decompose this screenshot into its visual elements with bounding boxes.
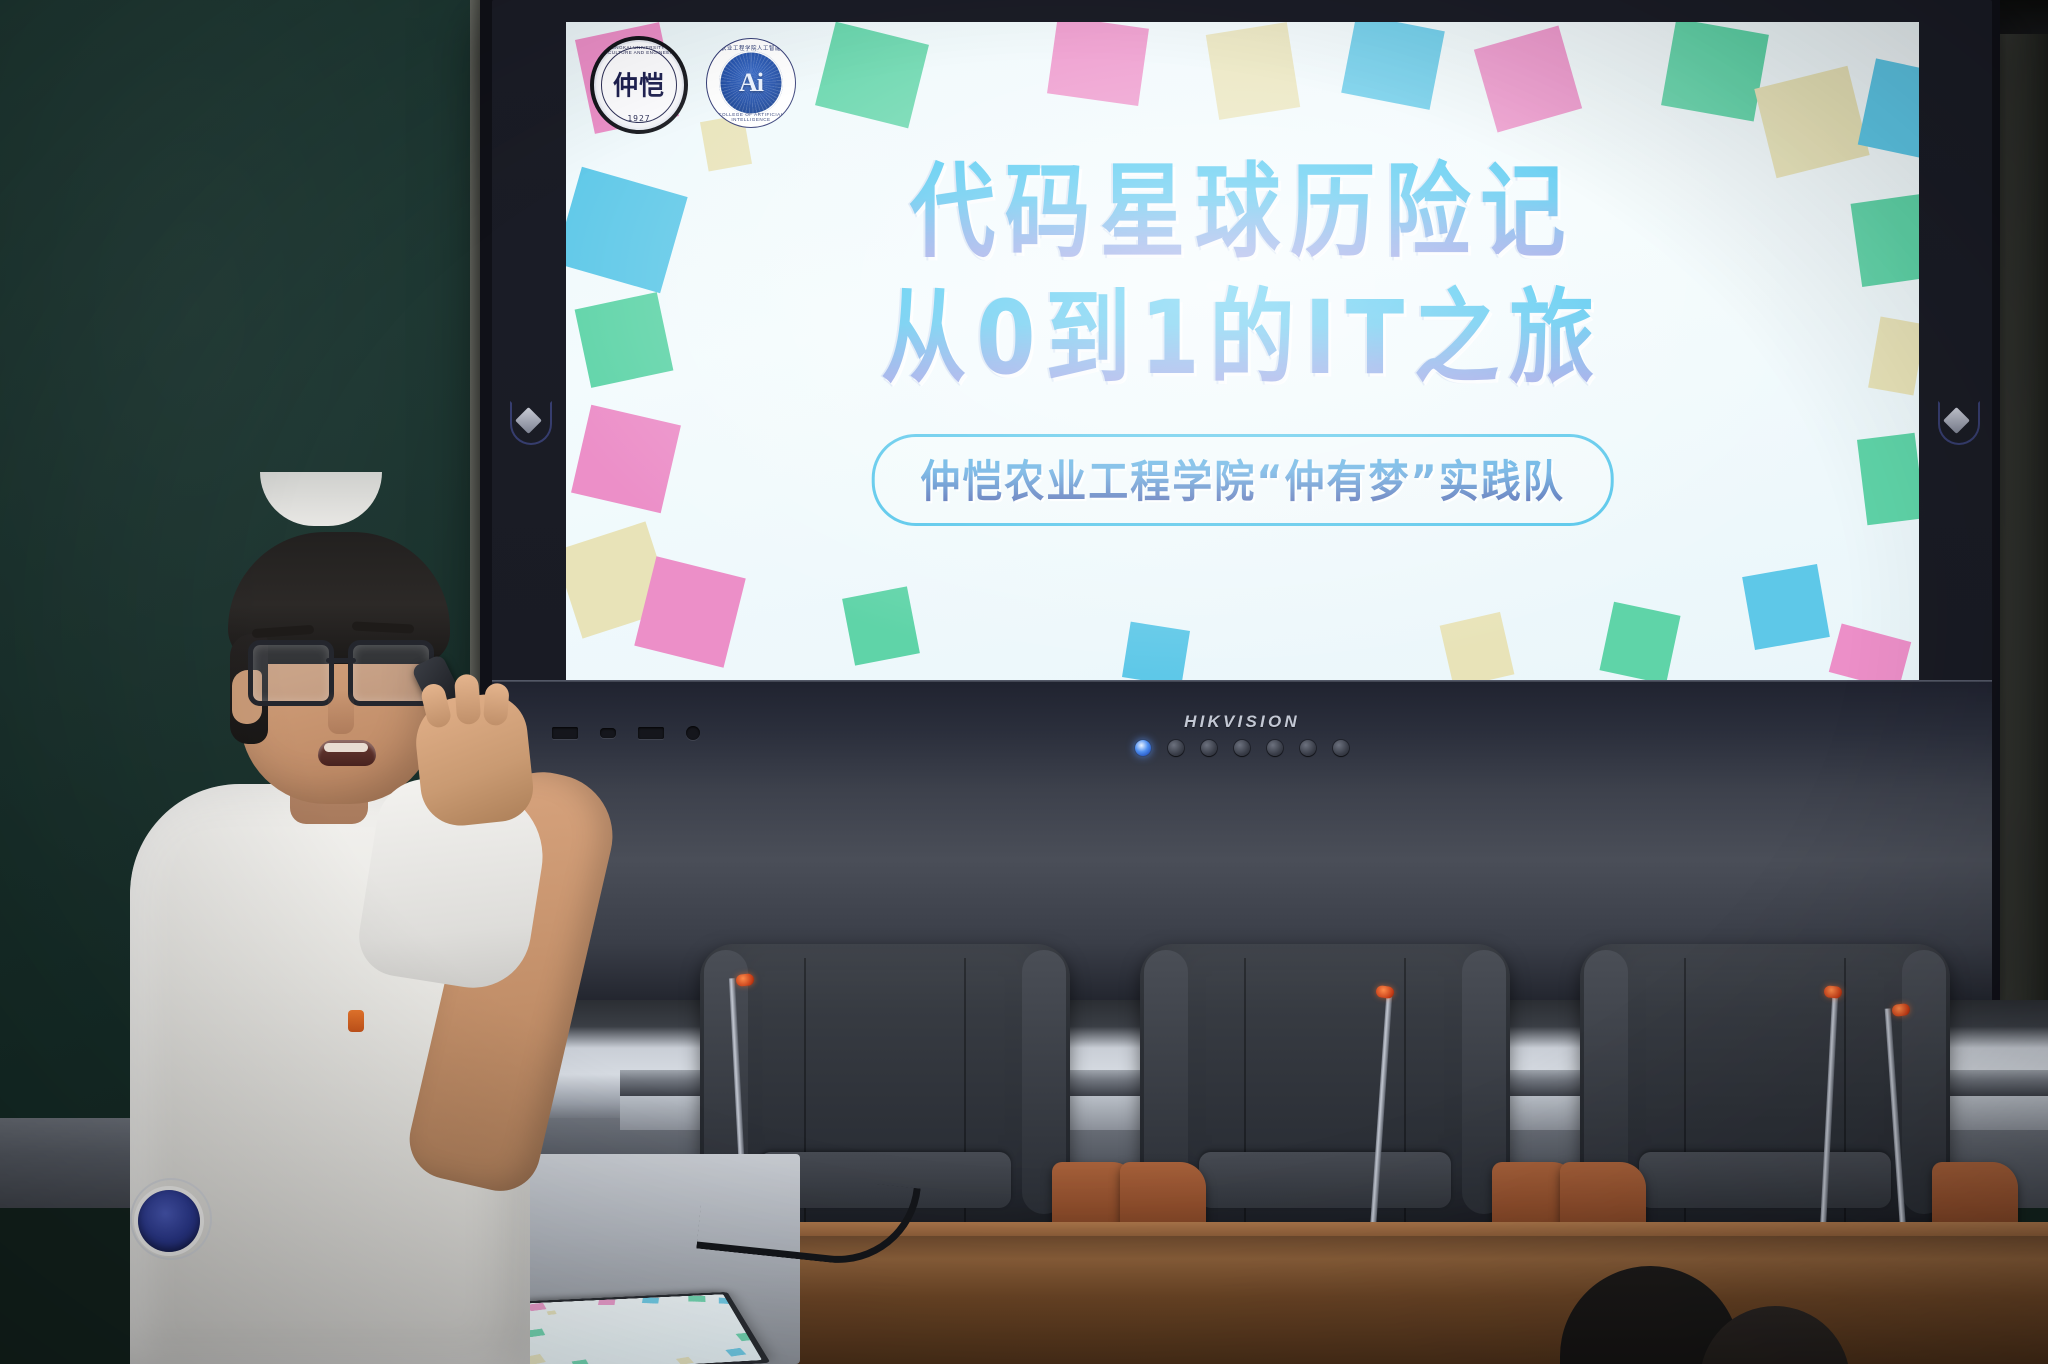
- zhongkai-university-seal: ZHONGKAI UNIVERSITY OF AGRICULTURE AND E…: [590, 36, 688, 134]
- display-led-indicator[interactable]: [1333, 740, 1349, 756]
- slide-title-line-2: 从0到1的IT之旅: [586, 280, 1898, 396]
- shirt-print-detail: [348, 1010, 364, 1032]
- presenter-nose: [328, 690, 354, 734]
- gooseneck-microphone[interactable]: [1870, 1004, 1940, 1254]
- confetti-square: [1742, 564, 1830, 650]
- ai-seal-center-text: Ai: [719, 68, 783, 98]
- display-indicator-leds[interactable]: [492, 740, 1992, 756]
- slide-subtitle-pill: 仲恺农业工程学院“仲有梦”实践队: [871, 434, 1614, 526]
- confetti-square: [1474, 26, 1582, 133]
- confetti-square: [689, 1296, 706, 1302]
- shirt-collar: [260, 472, 382, 526]
- display-led-indicator[interactable]: [1201, 740, 1217, 756]
- confetti-square: [1440, 612, 1515, 682]
- confetti-square: [725, 1348, 746, 1357]
- slide-title-line-1: 代码星球历险记: [586, 154, 1898, 270]
- navigation-diamond-icon[interactable]: [512, 404, 546, 438]
- hikvision-brand-text: HIKVISION: [492, 712, 1992, 732]
- slide-title-block: 代码星球历险记 从0到1的IT之旅: [566, 154, 1919, 381]
- confetti-square: [1858, 58, 1919, 161]
- presenter-hand: [412, 690, 537, 829]
- seal-outer-text: ZHONGKAI UNIVERSITY OF AGRICULTURE AND E…: [594, 45, 684, 55]
- display-led-indicator[interactable]: [1267, 740, 1283, 756]
- navigation-diamond-icon[interactable]: [1940, 404, 1974, 438]
- confetti-square: [1857, 433, 1919, 525]
- confetti-square: [1206, 22, 1300, 120]
- presenter-mouth: [318, 740, 376, 766]
- lecture-hall-scene: ZHONGKAI UNIVERSITY OF AGRICULTURE AND E…: [0, 0, 2048, 1364]
- confetti-square: [1829, 624, 1911, 682]
- confetti-square: [815, 22, 929, 128]
- confetti-square: [1122, 622, 1190, 682]
- display-led-indicator[interactable]: [1135, 740, 1151, 756]
- sleeve-emblem-badge: [138, 1190, 200, 1252]
- glasses-bridge: [326, 658, 356, 663]
- display-led-indicator[interactable]: [1234, 740, 1250, 756]
- confetti-square: [719, 1298, 734, 1304]
- student-presenter: [100, 464, 660, 1364]
- confetti-square: [736, 1333, 753, 1341]
- gooseneck-microphone[interactable]: [1340, 986, 1410, 1254]
- seal-year: 1927: [594, 114, 684, 123]
- gooseneck-microphone[interactable]: [1790, 986, 1860, 1254]
- confetti-square: [1661, 22, 1769, 121]
- college-of-artificial-intelligence-seal: 仲恺农业工程学院人工智能学院 Ai COLLEGE OF ARTIFICIAL …: [706, 38, 796, 128]
- ai-seal-globe: Ai: [719, 51, 783, 115]
- lens-left: [248, 640, 334, 706]
- seal-center-text: 仲恺: [594, 65, 684, 103]
- confetti-square: [1341, 22, 1445, 110]
- display-led-indicator[interactable]: [1168, 740, 1184, 756]
- presentation-screen[interactable]: ZHONGKAI UNIVERSITY OF AGRICULTURE AND E…: [566, 22, 1919, 682]
- ai-seal-bottom-text: COLLEGE OF ARTIFICIAL INTELLIGENCE: [707, 112, 795, 122]
- presenter-teeth: [324, 743, 368, 752]
- confetti-square: [842, 586, 920, 665]
- display-led-indicator[interactable]: [1300, 740, 1316, 756]
- slide-subtitle-text: 仲恺农业工程学院“仲有梦”实践队: [920, 446, 1565, 510]
- confetti-square: [1047, 22, 1149, 106]
- confetti-square: [676, 1357, 694, 1364]
- confetti-square: [1599, 602, 1680, 682]
